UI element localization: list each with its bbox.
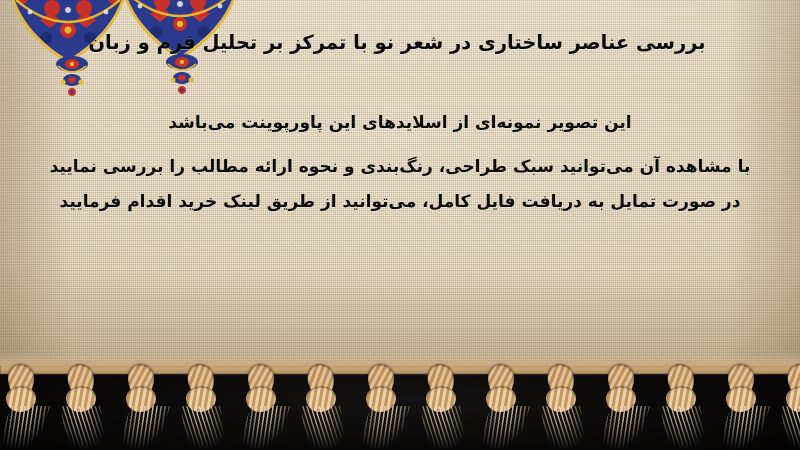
body-line-1: این تصویر نمونه‌ای از اسلایدهای این پاور… <box>0 112 800 134</box>
carpet-fringe-tassel <box>774 360 800 450</box>
fringe-strands <box>420 406 468 450</box>
slide-body: این تصویر نمونه‌ای از اسلایدهای این پاور… <box>0 112 800 226</box>
slide-title: بررسی عناصر ساختاری در شعر نو با تمرکز ب… <box>12 30 782 56</box>
slide-text-layer: بررسی عناصر ساختاری در شعر نو با تمرکز ب… <box>0 0 800 372</box>
fringe-strands <box>540 406 588 450</box>
carpet-fringe-row <box>0 360 800 450</box>
carpet-fringe-tassel <box>0 360 56 450</box>
fringe-strands <box>780 406 800 450</box>
fringe-strands <box>478 406 531 450</box>
carpet-fringe-tassel <box>474 360 536 450</box>
fringe-strands <box>118 406 171 450</box>
carpet-fringe-tassel <box>354 360 416 450</box>
fringe-strands <box>660 406 708 450</box>
body-line-2: با مشاهده آن می‌توانید سبک طراحی، رنگ‌بن… <box>0 156 800 178</box>
fringe-strands <box>180 406 228 450</box>
fringe-strands <box>718 406 771 450</box>
body-line-3: در صورت تمایل به دریافت فایل کامل، می‌تو… <box>0 191 800 213</box>
carpet-fringe-tassel <box>114 360 176 450</box>
carpet-fringe-tassel <box>594 360 656 450</box>
fringe-strands <box>238 406 291 450</box>
fringe-strands <box>0 406 50 450</box>
carpet-fringe-tassel <box>714 360 776 450</box>
carpet-fringe-tassel <box>54 360 116 450</box>
presentation-slide: بررسی عناصر ساختاری در شعر نو با تمرکز ب… <box>0 0 800 450</box>
fringe-strands <box>60 406 108 450</box>
carpet-fringe-tassel <box>294 360 356 450</box>
fringe-strands <box>598 406 651 450</box>
carpet-fringe-tassel <box>234 360 296 450</box>
carpet-fringe-tassel <box>174 360 236 450</box>
carpet-fringe-tassel <box>534 360 596 450</box>
fringe-strands <box>358 406 411 450</box>
carpet-fringe-tassel <box>654 360 716 450</box>
carpet-fringe-tassel <box>414 360 476 450</box>
fringe-strands <box>300 406 348 450</box>
